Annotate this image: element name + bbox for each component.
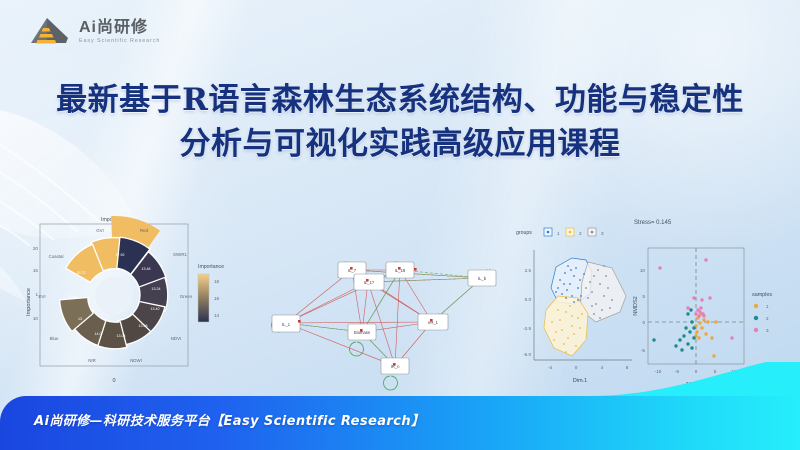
svg-text:0: 0: [642, 320, 645, 325]
brand-logo[interactable]: Ai尚研修 Easy Scientific Research: [26, 16, 160, 48]
chart1-cat-coastal: Coastal: [49, 254, 64, 259]
chart1-cat-ndvi: NDVI: [171, 336, 182, 341]
chart1-cat-red: Red: [140, 228, 149, 233]
svg-text:IL_b: IL_b: [478, 276, 487, 281]
svg-text:17.92: 17.92: [116, 253, 125, 257]
chart4-y-ticks: 105 0-5: [640, 268, 646, 353]
chart4-stress-annotation: Stress= 0.145: [634, 220, 672, 226]
svg-text:3: 3: [601, 231, 604, 236]
svg-text:-4: -4: [548, 365, 553, 370]
chart1-xlabel: 0: [112, 378, 115, 384]
svg-text:2: 2: [766, 316, 769, 321]
svg-text:20: 20: [33, 246, 39, 251]
svg-text:16: 16: [214, 296, 220, 301]
chart1-cat-green: Green: [180, 294, 193, 299]
title-line-2: 分析与可视化实践高级应用课程: [0, 122, 800, 166]
svg-text:13.48: 13.48: [142, 267, 151, 271]
chart-circular-importance[interactable]: Importance 0 Importance 2015 110: [18, 210, 254, 395]
chart1-cat-nir: NIR: [88, 358, 96, 363]
svg-text:1: 1: [557, 231, 560, 236]
svg-text:samples: samples: [752, 292, 772, 298]
svg-text:2: 2: [579, 231, 582, 236]
svg-text:-5.0: -5.0: [523, 352, 531, 357]
svg-text:18: 18: [214, 279, 220, 284]
svg-text:-2.5: -2.5: [523, 326, 531, 331]
svg-text:groups: groups: [516, 230, 532, 236]
svg-text:IL_17: IL_17: [364, 280, 375, 285]
chart-sem-network[interactable]: IL_1IL_7 IL_17IL_18 BiomasseH_1 IL_bIR_n: [250, 210, 512, 395]
decorative-cyan-wave: [590, 362, 800, 396]
chart4-points-sample2: [652, 308, 695, 351]
svg-text:13.24: 13.24: [152, 287, 161, 291]
chart1-cat-gvi: GVI: [96, 228, 104, 233]
chart1-cat-evi: EVI: [38, 294, 45, 299]
svg-text:10: 10: [640, 268, 646, 273]
page-title: 最新基于R语言森林生态系统结构、功能与稳定性 分析与可视化实践高级应用课程: [0, 78, 800, 166]
svg-text:-5: -5: [641, 348, 646, 353]
svg-text:14.0: 14.0: [95, 332, 102, 336]
svg-text:5: 5: [642, 294, 645, 299]
chart1-cat-swir1: SWIR1: [173, 252, 187, 257]
svg-text:13: 13: [78, 317, 82, 321]
chart1-cat-blue: Blue: [50, 336, 59, 341]
svg-text:0.0: 0.0: [525, 297, 532, 302]
svg-text:15: 15: [33, 268, 39, 273]
slide-canvas: Ai尚研修 Easy Scientific Research 最新基于R语言森林…: [0, 0, 800, 450]
svg-text:13.08: 13.08: [139, 324, 148, 328]
svg-text:0: 0: [575, 365, 578, 370]
svg-text:2.5: 2.5: [525, 268, 532, 273]
brand-name-cn: Ai尚研修: [79, 20, 160, 36]
svg-text:13.40: 13.40: [151, 307, 160, 311]
chart3-y-ticks: 2.50.0 -2.5-5.0: [523, 268, 531, 357]
svg-text:Importance: Importance: [198, 264, 224, 270]
svg-text:eH_1: eH_1: [428, 320, 439, 325]
brand-name-en: Easy Scientific Research: [79, 39, 160, 44]
svg-text:1: 1: [766, 304, 769, 309]
svg-text:13.04: 13.04: [117, 334, 126, 338]
chart3-hulls: [544, 258, 626, 356]
footer-text: Ai尚研修—科研技术服务平台【Easy Scientific Research】: [34, 410, 424, 429]
chart1-ylabel: Importance: [26, 288, 32, 316]
svg-text:14: 14: [214, 313, 220, 318]
svg-text:10: 10: [33, 316, 39, 321]
chart3-xlabel: Dim.1: [573, 378, 588, 384]
chart4-legend: samples 1 2 3: [752, 292, 772, 333]
chart4-points-sample1: [694, 312, 717, 357]
mountain-logo-icon: [26, 16, 72, 48]
svg-text:15.72: 15.72: [77, 271, 86, 275]
title-line-1: 最新基于R语言森林生态系统结构、功能与稳定性: [56, 82, 744, 118]
svg-text:3: 3: [766, 328, 769, 333]
footer-bar: Ai尚研修—科研技术服务平台【Easy Scientific Research】: [0, 396, 800, 450]
chart3-legend: groups 1 2 3: [516, 228, 604, 236]
svg-text:IL_1: IL_1: [282, 322, 291, 327]
chart1-cat-ndwi: NDWI: [130, 358, 142, 363]
chart4-ylabel: NMDS2: [633, 296, 639, 316]
svg-text:13.49: 13.49: [68, 295, 77, 299]
